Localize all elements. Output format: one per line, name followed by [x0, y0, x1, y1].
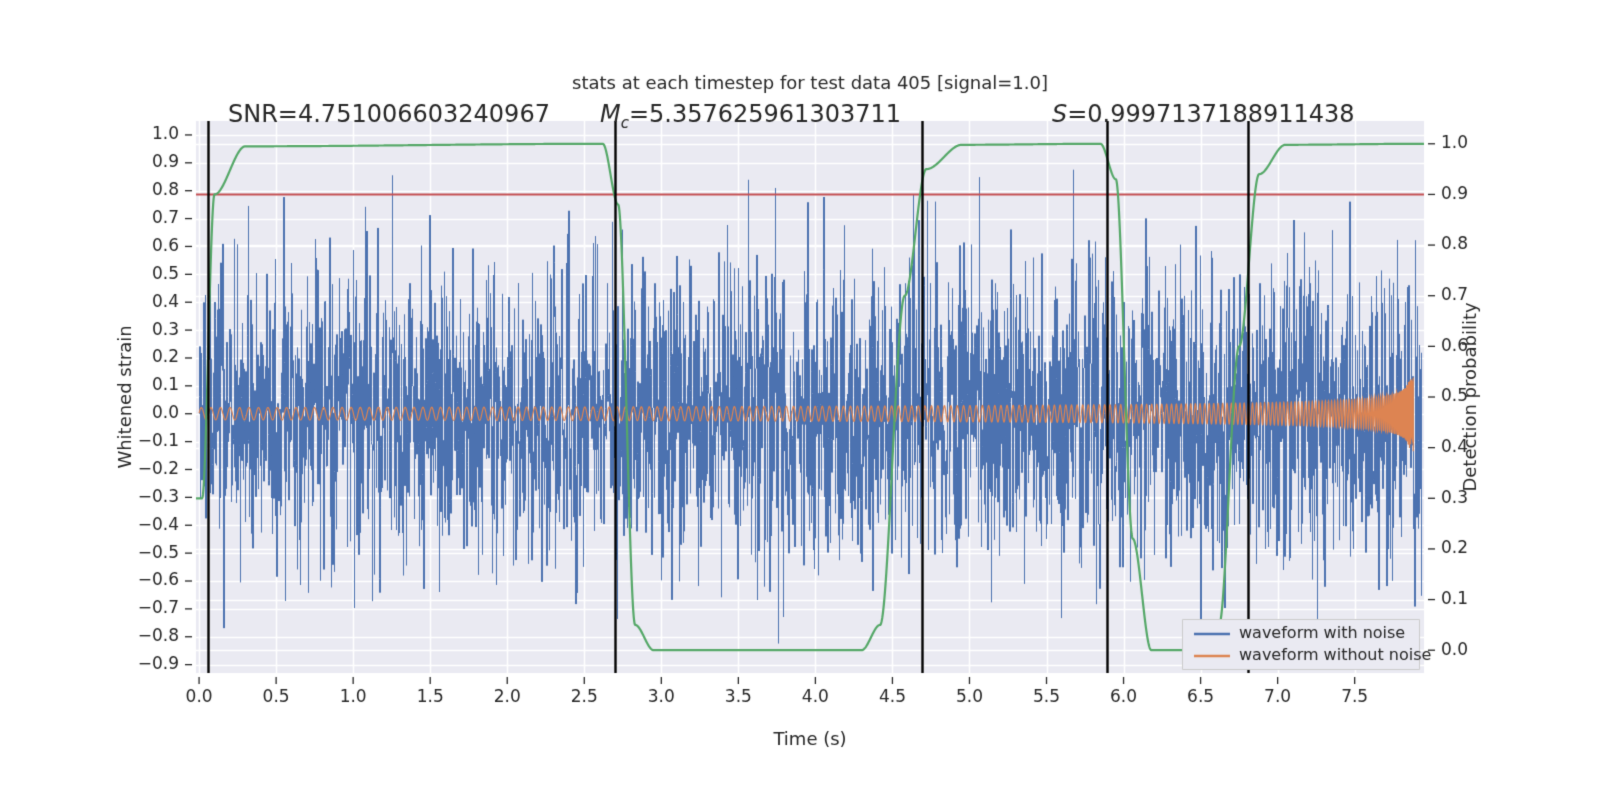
figure-canvas-container: [0, 0, 1600, 800]
detection-probability-plot: [0, 0, 1600, 800]
